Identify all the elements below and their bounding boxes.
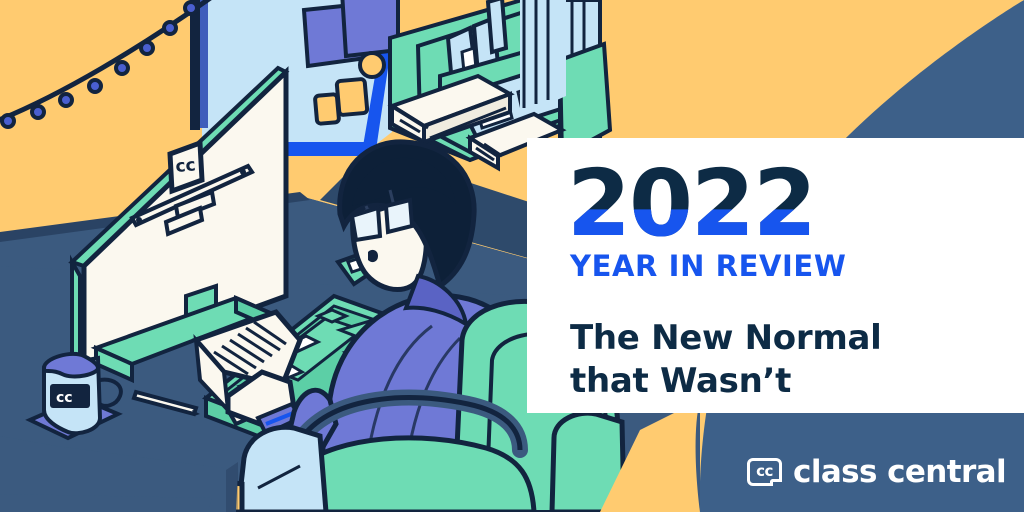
svg-text:cc: cc bbox=[56, 390, 73, 406]
light-bulb bbox=[185, 2, 197, 14]
light-bulb bbox=[32, 106, 44, 118]
cc-mark-notch bbox=[770, 479, 782, 486]
year-heading: 2022 2022 bbox=[567, 162, 815, 247]
organizer-item-3 bbox=[488, 0, 506, 52]
light-bulb bbox=[2, 115, 14, 127]
monitor-screen-logo: cc bbox=[170, 143, 202, 191]
tagline: The New Normal that Wasn’t bbox=[570, 317, 1024, 404]
secondary-monitor bbox=[190, 0, 208, 130]
sticky-note-2 bbox=[315, 94, 339, 124]
class-central-logo: cc class central bbox=[747, 454, 1006, 490]
light-bulb bbox=[60, 94, 72, 106]
svg-text:cc: cc bbox=[175, 155, 197, 177]
light-bulb bbox=[164, 22, 176, 34]
logo-wordmark: class central bbox=[793, 454, 1006, 490]
cc-mark-text: cc bbox=[756, 464, 773, 479]
tagline-line-2: that Wasn’t bbox=[570, 360, 1024, 404]
light-bulb bbox=[89, 80, 101, 92]
tagline-line-1: The New Normal bbox=[570, 317, 1024, 361]
light-bulb bbox=[116, 62, 128, 74]
sticky-note-1 bbox=[337, 79, 368, 115]
year-in-review-banner: cc bbox=[0, 0, 1024, 512]
cc-mark-icon: cc bbox=[747, 458, 782, 486]
pinboard-circle bbox=[360, 53, 384, 77]
light-bulb bbox=[141, 42, 153, 54]
year-text-navy: 2022 bbox=[567, 150, 815, 257]
headline-card: 2022 2022 YEAR IN REVIEW The New Normal … bbox=[527, 138, 1024, 413]
